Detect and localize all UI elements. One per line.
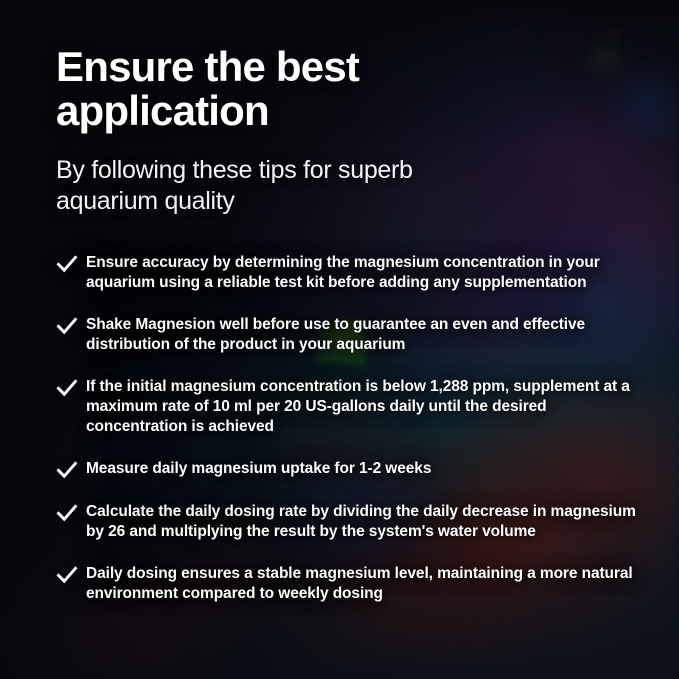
list-item: Calculate the daily dosing rate by divid…: [56, 502, 655, 542]
list-item-label: Daily dosing ensures a stable magnesium …: [86, 564, 651, 604]
list-item: Ensure accuracy by determining the magne…: [56, 253, 655, 293]
check-icon: [56, 565, 86, 585]
content-container: Ensure the best application By following…: [0, 0, 679, 604]
list-item-label: Calculate the daily dosing rate by divid…: [86, 502, 651, 542]
check-icon: [56, 254, 86, 274]
check-icon: [56, 378, 86, 398]
page-title: Ensure the best application: [56, 45, 456, 133]
product-tips-infographic: Ensure the best application By following…: [0, 0, 679, 679]
list-item-label: Measure daily magnesium uptake for 1-2 w…: [86, 459, 431, 479]
list-item: Daily dosing ensures a stable magnesium …: [56, 564, 655, 604]
list-item: Measure daily magnesium uptake for 1-2 w…: [56, 459, 655, 480]
list-item-label: If the initial magnesium concentration i…: [86, 377, 651, 437]
page-subtitle: By following these tips for superb aquar…: [56, 155, 416, 217]
list-item: If the initial magnesium concentration i…: [56, 377, 655, 437]
check-icon: [56, 316, 86, 336]
check-icon: [56, 503, 86, 523]
list-item-label: Ensure accuracy by determining the magne…: [86, 253, 651, 293]
list-item: Shake Magnesion well before use to guara…: [56, 315, 655, 355]
check-icon: [56, 460, 86, 480]
tips-list: Ensure accuracy by determining the magne…: [56, 253, 655, 604]
list-item-label: Shake Magnesion well before use to guara…: [86, 315, 651, 355]
